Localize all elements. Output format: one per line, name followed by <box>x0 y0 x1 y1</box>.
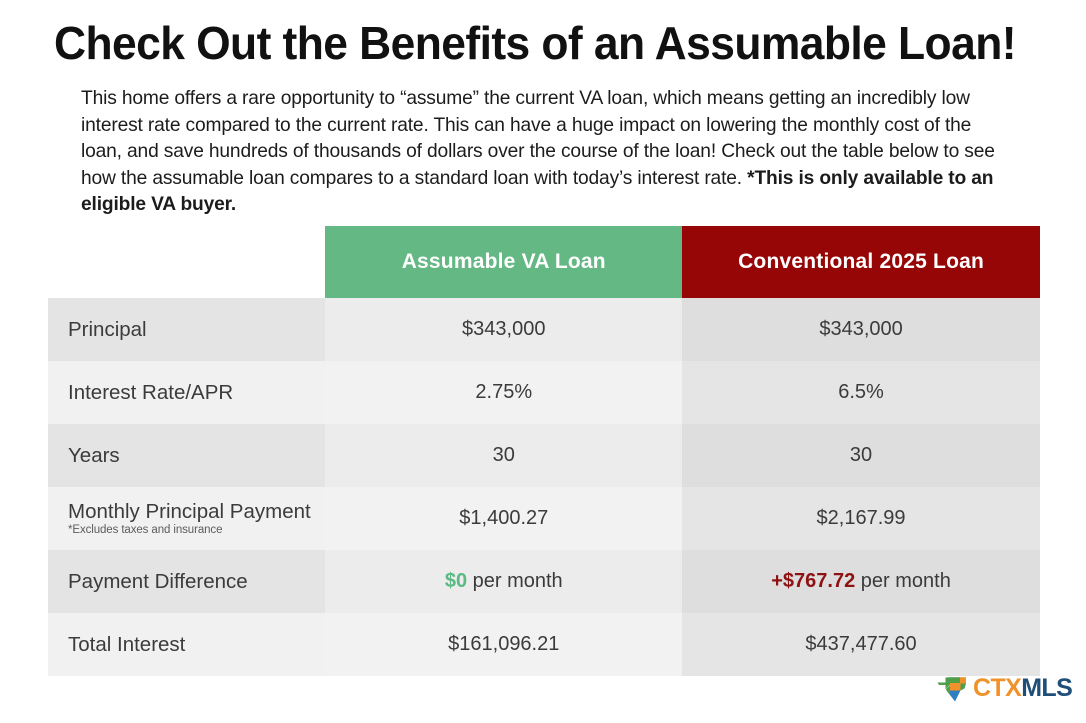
table-row: Monthly Principal Payment*Excludes taxes… <box>48 487 1040 550</box>
logo-text: CTXMLS <box>973 676 1072 701</box>
cell-assumable-payment-difference: $0 per month <box>325 550 682 613</box>
row-label-text: Monthly Principal Payment <box>68 500 311 523</box>
cell-conventional-principal: $343,000 <box>682 298 1040 361</box>
payment-difference-amount-red: +$767.72 <box>771 570 855 592</box>
table-row: Payment Difference $0 per month +$767.72… <box>48 550 1040 613</box>
ctxmls-logo: CTXMLS <box>936 670 1072 706</box>
table-head: Assumable VA Loan Conventional 2025 Loan <box>48 226 1040 298</box>
cell-assumable-principal: $343,000 <box>325 298 682 361</box>
header-cell-conventional-2025-loan: Conventional 2025 Loan <box>682 226 1040 298</box>
table-row: Years 30 30 <box>48 424 1040 487</box>
table-header-row: Assumable VA Loan Conventional 2025 Loan <box>48 226 1040 298</box>
header-cell-assumable-va-loan: Assumable VA Loan <box>325 226 682 298</box>
texas-state-icon <box>936 673 970 703</box>
cell-assumable-monthly-payment: $1,400.27 <box>325 487 682 550</box>
payment-difference-suffix: per month <box>467 570 563 592</box>
logo-text-mls: MLS <box>1021 674 1072 702</box>
infographic-page: Check Out the Benefits of an Assumable L… <box>0 0 1086 723</box>
page-title: Check Out the Benefits of an Assumable L… <box>54 16 1009 70</box>
table-row: Principal $343,000 $343,000 <box>48 298 1040 361</box>
cell-assumable-total-interest: $161,096.21 <box>325 613 682 676</box>
row-label-subtext: *Excludes taxes and insurance <box>68 524 324 536</box>
row-label-monthly-principal-payment: Monthly Principal Payment*Excludes taxes… <box>48 487 325 550</box>
table-body: Principal $343,000 $343,000 Interest Rat… <box>48 298 1040 676</box>
row-label-total-interest: Total Interest <box>48 613 325 676</box>
cell-conventional-years: 30 <box>682 424 1040 487</box>
cell-assumable-interest-rate: 2.75% <box>325 361 682 424</box>
cell-conventional-payment-difference: +$767.72 per month <box>682 550 1040 613</box>
cell-conventional-total-interest: $437,477.60 <box>682 613 1040 676</box>
intro-paragraph: This home offers a rare opportunity to “… <box>81 86 1005 219</box>
logo-text-ctx: CTX <box>973 674 1021 702</box>
table-row: Total Interest $161,096.21 $437,477.60 <box>48 613 1040 676</box>
row-label-payment-difference: Payment Difference <box>48 550 325 613</box>
cell-assumable-years: 30 <box>325 424 682 487</box>
loan-comparison-table: Assumable VA Loan Conventional 2025 Loan… <box>48 226 1040 676</box>
table-row: Interest Rate/APR 2.75% 6.5% <box>48 361 1040 424</box>
cell-conventional-interest-rate: 6.5% <box>682 361 1040 424</box>
row-label-years: Years <box>48 424 325 487</box>
payment-difference-suffix: per month <box>855 570 951 592</box>
cell-conventional-monthly-payment: $2,167.99 <box>682 487 1040 550</box>
header-cell-blank <box>48 226 325 298</box>
payment-difference-amount-green: $0 <box>445 570 467 592</box>
row-label-principal: Principal <box>48 298 325 361</box>
row-label-interest-rate-apr: Interest Rate/APR <box>48 361 325 424</box>
